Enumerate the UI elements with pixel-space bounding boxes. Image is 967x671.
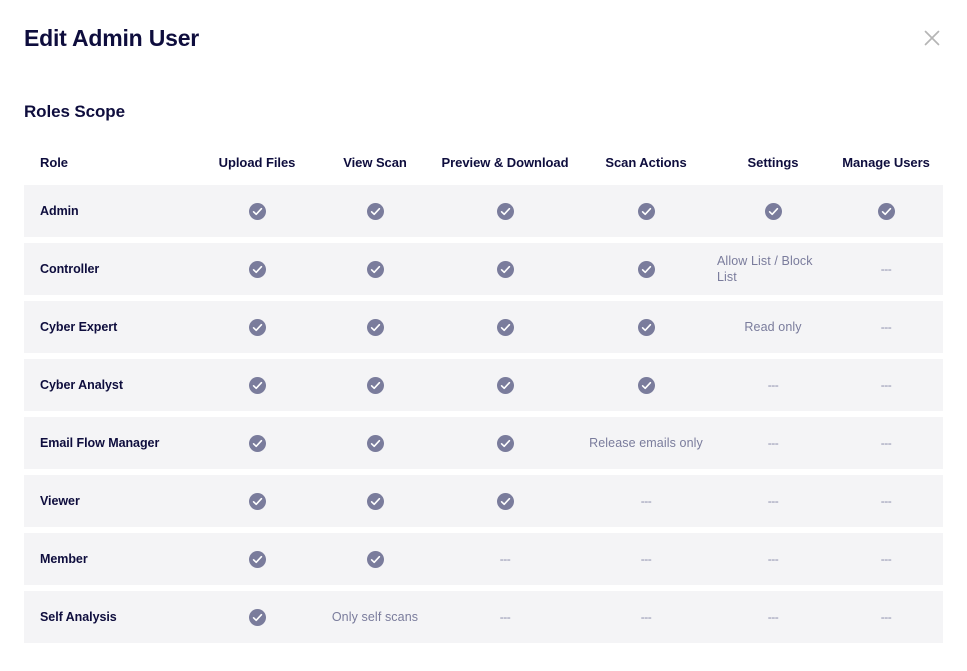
permission-empty: --- — [881, 319, 892, 335]
permission-empty: --- — [881, 551, 892, 567]
check-circle-icon — [497, 203, 514, 220]
permission-cell-preview — [435, 435, 575, 452]
permission-empty: --- — [500, 551, 511, 567]
check-circle-icon — [367, 377, 384, 394]
permission-empty: --- — [768, 609, 779, 625]
permission-cell-scanact — [575, 203, 717, 220]
permission-empty: --- — [881, 493, 892, 509]
roles-scope-table: RoleUpload FilesView ScanPreview & Downl… — [0, 146, 967, 643]
permission-cell-preview — [435, 493, 575, 510]
check-circle-icon — [497, 435, 514, 452]
permission-cell-viewscan — [315, 203, 435, 220]
permission-cell-viewscan — [315, 261, 435, 278]
permission-cell-settings — [717, 203, 829, 220]
edit-admin-user-modal: Edit Admin User Roles Scope RoleUpload F… — [0, 0, 967, 671]
permission-cell-manage: --- — [829, 435, 943, 451]
permission-cell-settings: --- — [717, 493, 829, 509]
permission-note: Release emails only — [589, 435, 703, 451]
check-circle-icon — [638, 261, 655, 278]
permission-cell-viewscan — [315, 377, 435, 394]
permission-cell-settings: --- — [717, 551, 829, 567]
permission-note: Read only — [744, 319, 801, 335]
role-name-cell: Viewer — [24, 493, 199, 509]
permission-cell-viewscan — [315, 551, 435, 568]
role-label: Cyber Analyst — [40, 377, 123, 393]
permission-cell-manage — [829, 203, 943, 220]
column-header-settings: Settings — [717, 155, 829, 171]
role-name-cell: Controller — [24, 261, 199, 277]
permission-cell-scanact: --- — [575, 493, 717, 509]
permission-cell-scanact: Release emails only — [575, 435, 717, 451]
permission-cell-manage: --- — [829, 319, 943, 335]
role-label: Controller — [40, 261, 99, 277]
close-button[interactable] — [919, 25, 945, 51]
role-name-cell: Email Flow Manager — [24, 435, 199, 451]
permission-cell-viewscan — [315, 319, 435, 336]
role-label: Admin — [40, 203, 79, 219]
table-row: Email Flow ManagerRelease emails only---… — [24, 417, 943, 469]
close-icon — [923, 29, 941, 47]
permission-cell-upload — [199, 609, 315, 626]
check-circle-icon — [249, 551, 266, 568]
check-circle-icon — [638, 203, 655, 220]
check-circle-icon — [249, 203, 266, 220]
check-circle-icon — [497, 261, 514, 278]
permission-cell-upload — [199, 377, 315, 394]
column-header-viewscan: View Scan — [315, 155, 435, 171]
modal-header: Edit Admin User — [0, 0, 967, 72]
role-label: Email Flow Manager — [40, 435, 159, 451]
check-circle-icon — [249, 319, 266, 336]
permission-note: Only self scans — [332, 609, 418, 625]
permission-empty: --- — [641, 493, 652, 509]
role-name-cell: Member — [24, 551, 199, 567]
permission-cell-preview — [435, 377, 575, 394]
permission-cell-scanact — [575, 319, 717, 336]
check-circle-icon — [367, 203, 384, 220]
check-circle-icon — [249, 261, 266, 278]
permission-cell-settings: Read only — [717, 319, 829, 335]
page-title: Edit Admin User — [24, 22, 943, 54]
check-circle-icon — [367, 551, 384, 568]
table-row: Cyber Analyst------ — [24, 359, 943, 411]
role-name-cell: Cyber Analyst — [24, 377, 199, 393]
table-body: AdminControllerAllow List / Block List--… — [24, 185, 943, 643]
permission-cell-scanact: --- — [575, 609, 717, 625]
check-circle-icon — [367, 319, 384, 336]
permission-cell-upload — [199, 551, 315, 568]
table-row: Cyber ExpertRead only--- — [24, 301, 943, 353]
role-name-cell: Self Analysis — [24, 609, 199, 625]
table-row: Self AnalysisOnly self scans------------ — [24, 591, 943, 643]
permission-empty: --- — [881, 435, 892, 451]
check-circle-icon — [249, 493, 266, 510]
permission-cell-settings: --- — [717, 609, 829, 625]
table-header-row: RoleUpload FilesView ScanPreview & Downl… — [24, 146, 943, 180]
role-name-cell: Cyber Expert — [24, 319, 199, 335]
section-title-roles-scope: Roles Scope — [0, 72, 967, 124]
permission-cell-scanact: --- — [575, 551, 717, 567]
check-circle-icon — [497, 377, 514, 394]
check-circle-icon — [878, 203, 895, 220]
permission-cell-manage: --- — [829, 377, 943, 393]
permission-cell-settings: --- — [717, 377, 829, 393]
role-label: Member — [40, 551, 88, 567]
check-circle-icon — [249, 609, 266, 626]
check-circle-icon — [249, 435, 266, 452]
permission-cell-upload — [199, 261, 315, 278]
check-circle-icon — [367, 435, 384, 452]
permission-empty: --- — [881, 377, 892, 393]
permission-cell-scanact — [575, 377, 717, 394]
permission-empty: --- — [768, 493, 779, 509]
permission-cell-manage: --- — [829, 609, 943, 625]
permission-cell-upload — [199, 203, 315, 220]
role-label: Cyber Expert — [40, 319, 117, 335]
permission-cell-upload — [199, 435, 315, 452]
permission-empty: --- — [641, 551, 652, 567]
check-circle-icon — [367, 261, 384, 278]
check-circle-icon — [367, 493, 384, 510]
permission-empty: --- — [768, 551, 779, 567]
permission-cell-manage: --- — [829, 261, 943, 277]
table-row: Member------------ — [24, 533, 943, 585]
check-circle-icon — [497, 319, 514, 336]
permission-cell-settings: --- — [717, 435, 829, 451]
permission-cell-manage: --- — [829, 493, 943, 509]
permission-cell-upload — [199, 319, 315, 336]
role-label: Self Analysis — [40, 609, 117, 625]
permission-cell-upload — [199, 493, 315, 510]
column-header-preview: Preview & Download — [435, 155, 575, 171]
table-row: ControllerAllow List / Block List--- — [24, 243, 943, 295]
permission-cell-settings: Allow List / Block List — [717, 253, 829, 285]
permission-cell-preview: --- — [435, 551, 575, 567]
permission-empty: --- — [881, 261, 892, 277]
permission-empty: --- — [641, 609, 652, 625]
permission-cell-preview — [435, 319, 575, 336]
permission-empty: --- — [768, 435, 779, 451]
column-header-manage: Manage Users — [829, 155, 943, 171]
permission-cell-viewscan — [315, 493, 435, 510]
permission-empty: --- — [768, 377, 779, 393]
permission-cell-viewscan — [315, 435, 435, 452]
permission-empty: --- — [881, 609, 892, 625]
table-row: Viewer--------- — [24, 475, 943, 527]
check-circle-icon — [638, 377, 655, 394]
permission-cell-preview — [435, 203, 575, 220]
check-circle-icon — [638, 319, 655, 336]
permission-cell-viewscan: Only self scans — [315, 609, 435, 625]
check-circle-icon — [765, 203, 782, 220]
role-name-cell: Admin — [24, 203, 199, 219]
column-header-upload: Upload Files — [199, 155, 315, 171]
role-label: Viewer — [40, 493, 80, 509]
permission-note: Allow List / Block List — [717, 253, 829, 285]
check-circle-icon — [249, 377, 266, 394]
permission-cell-manage: --- — [829, 551, 943, 567]
permission-cell-scanact — [575, 261, 717, 278]
permission-empty: --- — [500, 609, 511, 625]
table-row: Admin — [24, 185, 943, 237]
column-header-role: Role — [24, 155, 199, 171]
permission-cell-preview — [435, 261, 575, 278]
permission-cell-preview: --- — [435, 609, 575, 625]
column-header-scanact: Scan Actions — [575, 155, 717, 171]
check-circle-icon — [497, 493, 514, 510]
